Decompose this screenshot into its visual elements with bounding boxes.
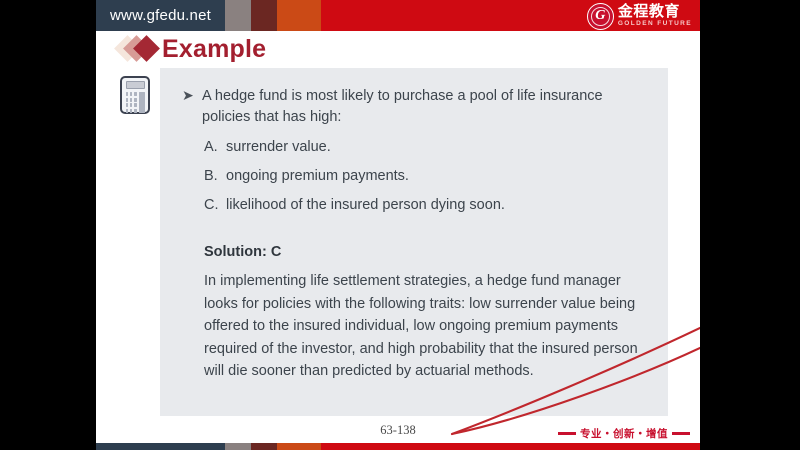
option-c-label: C. xyxy=(204,195,226,216)
logo-english-name: GOLDEN FUTURE xyxy=(618,19,692,28)
banner-grey-band xyxy=(225,0,251,31)
option-a-label: A. xyxy=(204,137,226,158)
slide-canvas: www.gfedu.net G 金程教育 GOLDEN FUTURE Examp… xyxy=(96,0,700,450)
slogan-dash-left xyxy=(558,432,576,435)
option-b[interactable]: B. ongoing premium payments. xyxy=(204,166,646,187)
logo-chinese-name: 金程教育 xyxy=(618,4,692,19)
footer-slogan: 专业・创新・增值 xyxy=(558,426,690,441)
content-panel: ➤ A hedge fund is most likely to purchas… xyxy=(160,68,668,416)
question-text: A hedge fund is most likely to purchase … xyxy=(202,86,646,128)
answer-options: A. surrender value. B. ongoing premium p… xyxy=(182,137,646,216)
banner-orange-band xyxy=(277,0,321,31)
diamond-bullet-icon xyxy=(116,34,162,64)
option-b-text: ongoing premium payments. xyxy=(226,166,409,187)
option-a[interactable]: A. surrender value. xyxy=(204,137,646,158)
seal-icon: G xyxy=(587,3,614,30)
footer-slogan-text: 专业・创新・增值 xyxy=(580,426,668,441)
gfedu-logo: G 金程教育 GOLDEN FUTURE xyxy=(583,1,696,31)
option-a-text: surrender value. xyxy=(226,137,331,158)
banner-maroon-band xyxy=(251,0,277,31)
calculator-icon xyxy=(120,76,150,114)
logo-text: 金程教育 GOLDEN FUTURE xyxy=(618,4,692,28)
page-title-label: Example xyxy=(162,35,266,64)
footer-orange-band xyxy=(277,443,321,450)
option-b-label: B. xyxy=(204,166,226,187)
option-c[interactable]: C. likelihood of the insured person dyin… xyxy=(204,195,646,216)
solution-explanation: In implementing life settlement strategi… xyxy=(182,270,646,383)
screenshot-root: www.gfedu.net G 金程教育 GOLDEN FUTURE Examp… xyxy=(0,0,800,450)
footer-band xyxy=(96,443,700,450)
footer-red-band xyxy=(321,443,700,450)
footer-navy-band xyxy=(96,443,225,450)
page-title: Example xyxy=(116,34,266,64)
arrow-bullet-icon: ➤ xyxy=(182,86,202,128)
solution-heading: Solution: C xyxy=(182,242,646,263)
slogan-dash-right xyxy=(672,432,690,435)
question-row: ➤ A hedge fund is most likely to purchas… xyxy=(182,86,646,128)
seal-letter: G xyxy=(595,9,605,23)
banner-url: www.gfedu.net xyxy=(96,0,225,31)
option-c-text: likelihood of the insured person dying s… xyxy=(226,195,505,216)
footer-grey-band xyxy=(225,443,251,450)
footer-maroon-band xyxy=(251,443,277,450)
